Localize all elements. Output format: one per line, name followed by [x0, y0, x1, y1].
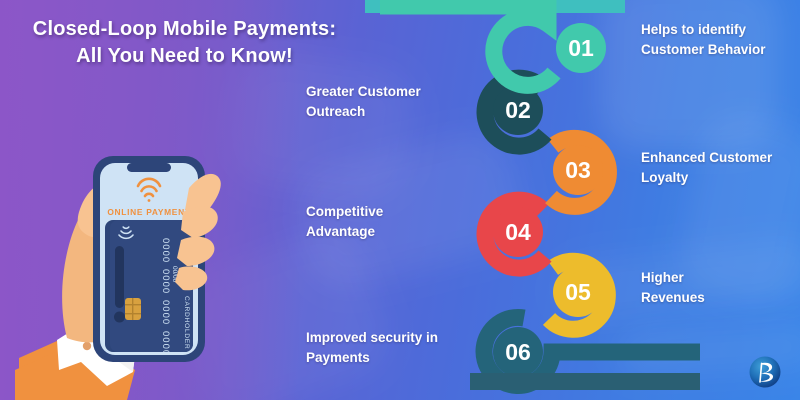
step-ring-05[interactable]: 05 — [549, 261, 607, 329]
step-label-01: Helps to identify Customer Behavior — [641, 20, 791, 59]
step-number-05: 05 — [565, 279, 591, 305]
step-label-05-line1: Higher — [641, 268, 791, 288]
step-ring-01[interactable]: 01 — [380, 6, 606, 85]
step-label-02: Greater Customer Outreach — [306, 82, 456, 121]
step-ring-04[interactable]: 04 — [485, 200, 545, 268]
step-label-05-line2: Revenues — [641, 288, 791, 308]
step-label-02-line2: Outreach — [306, 102, 456, 122]
step-label-05: Higher Revenues — [641, 268, 791, 307]
infographic-canvas: Closed-Loop Mobile Payments: All You Nee… — [0, 0, 800, 400]
step-label-04-line2: Advantage — [306, 222, 456, 242]
step-label-02-line1: Greater Customer — [306, 82, 456, 102]
step-number-01: 01 — [568, 35, 594, 61]
step-label-04: Competitive Advantage — [306, 202, 456, 241]
brand-logo-b-icon[interactable] — [748, 355, 782, 389]
step-number-02: 02 — [505, 97, 531, 123]
step-label-06-line2: Payments — [306, 348, 466, 368]
step-label-03-line2: Loyalty — [641, 168, 793, 188]
step-label-03-line1: Enhanced Customer — [641, 148, 793, 168]
step-label-03: Enhanced Customer Loyalty — [641, 148, 793, 187]
step-number-04: 04 — [505, 219, 531, 245]
bottom-accent-bar — [470, 373, 700, 390]
step-label-01-line2: Customer Behavior — [641, 40, 791, 60]
step-label-04-line1: Competitive — [306, 202, 456, 222]
step-label-06-line1: Improved security in — [306, 328, 466, 348]
step-number-06: 06 — [505, 339, 531, 365]
step-ring-03[interactable]: 03 — [551, 138, 608, 206]
step-label-06: Improved security in Payments — [306, 328, 466, 367]
step-number-03: 03 — [565, 157, 591, 183]
step-label-01-line1: Helps to identify — [641, 20, 791, 40]
